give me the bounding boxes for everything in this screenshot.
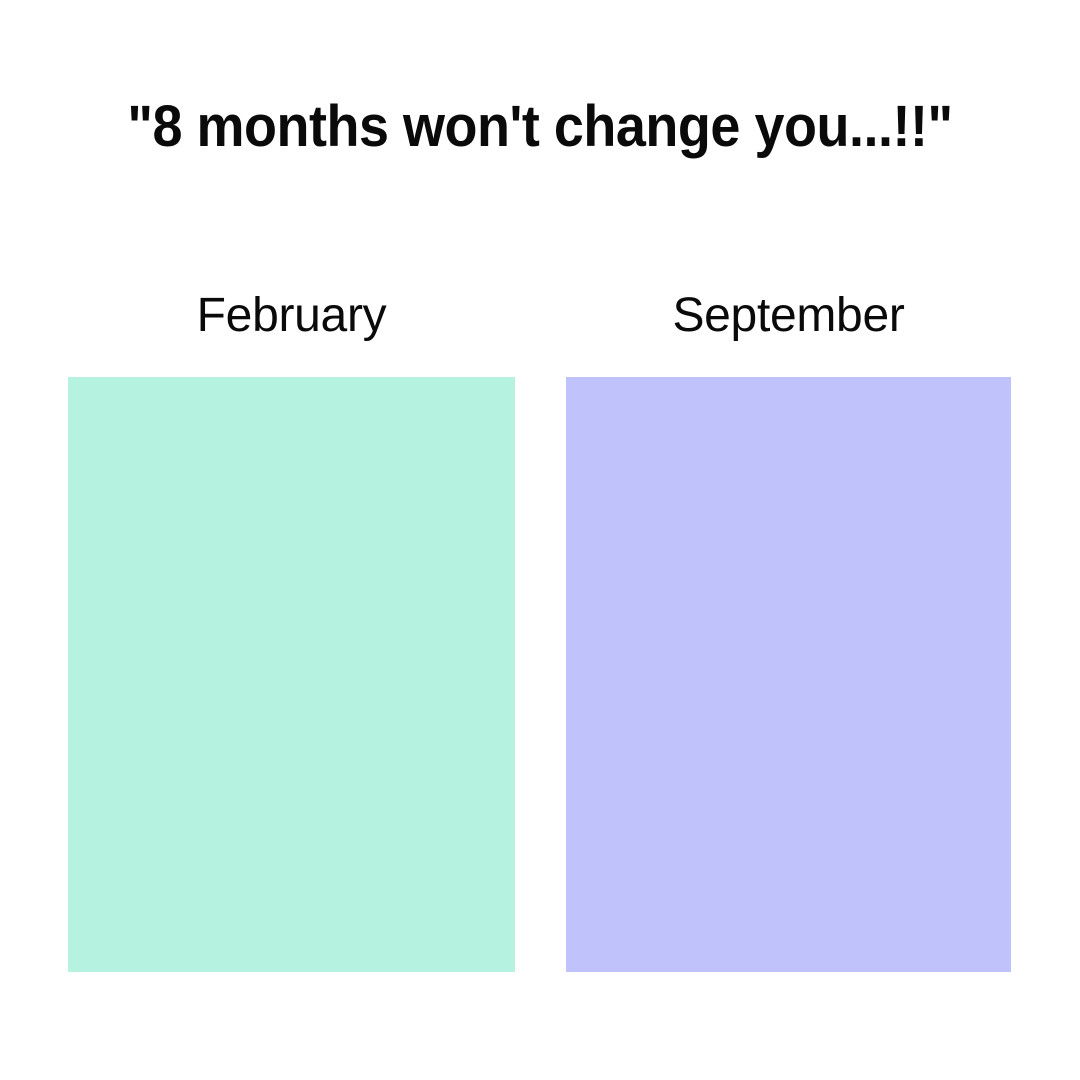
column-label-february: February [197, 290, 387, 342]
meme-title: "8 months won't change you...!!" [38, 96, 1042, 158]
photo-september[interactable] [566, 377, 1011, 972]
comparison-column-september: September [566, 290, 1011, 972]
comparison-row: February September [68, 290, 1011, 972]
photo-february[interactable] [68, 377, 515, 972]
comparison-column-february: February [68, 290, 515, 972]
meme-canvas: "8 months won't change you...!!" Februar… [0, 0, 1080, 1080]
column-label-september: September [672, 290, 904, 342]
